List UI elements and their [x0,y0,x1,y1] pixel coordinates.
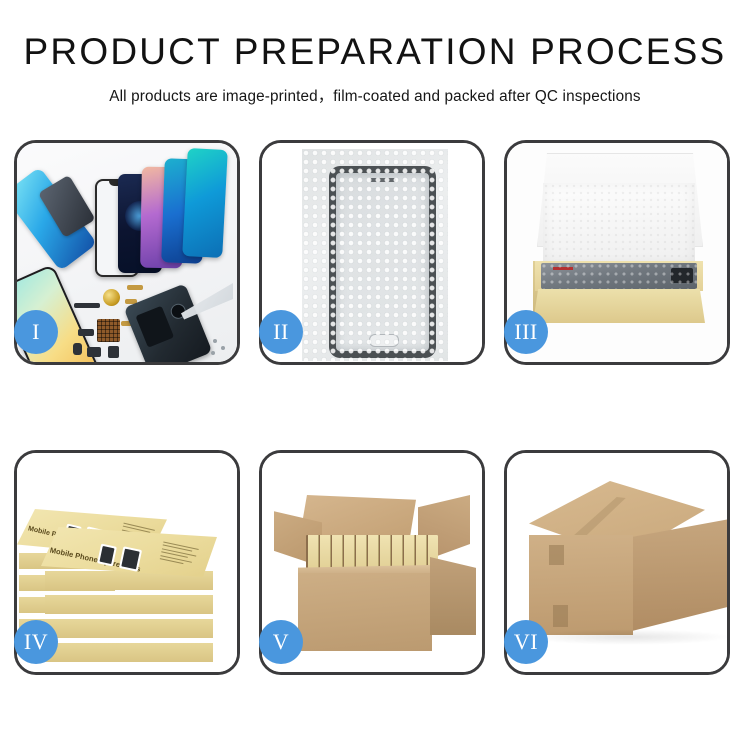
box-side-icon [45,595,213,614]
step-panel-5: V [259,450,485,675]
step-badge-1: I [14,310,58,354]
carton-shadow [525,629,727,645]
phone-teal-wallpaper-icon [182,148,228,258]
flex-cable-icon [127,285,143,290]
box-tray-front-icon [533,289,705,323]
step-panel-4: Mobile Phone Spare Parts [14,450,240,675]
wrapped-screen-icon [541,263,697,289]
screw-icon [213,339,217,343]
carton-flap-seam-icon [549,545,564,565]
screw-icon [221,346,225,350]
carton-flap-seam-icon [553,605,568,627]
step-panel-2: II [259,140,485,365]
product-preparation-infographic: PRODUCT PREPARATION PROCESS All products… [0,0,750,750]
step-badge-4: IV [14,620,58,664]
photo-area [302,149,448,361]
page-subtitle: All products are image-printed，film-coat… [0,84,750,106]
box-lid-top-icon: Mobile Phone Spare Parts [41,527,217,577]
page-title: PRODUCT PREPARATION PROCESS [0,33,750,70]
step-panel-3: III [504,140,730,365]
step-badge-2: II [259,310,303,354]
step-panel-1: I [14,140,240,365]
box-side-icon [45,619,213,638]
screw-icon [211,351,215,355]
foam-padding-icon [543,183,695,265]
carton-right-face-icon [632,519,727,631]
step-panel-6: VI [504,450,730,675]
carton-front-face-icon [298,573,432,651]
speaker-part-icon [87,347,101,357]
carton-front-face-icon [529,535,633,635]
chip-part-icon [74,303,100,308]
box-side-icon [45,643,213,662]
bubble-wrap-texture [302,149,448,361]
page-header: PRODUCT PREPARATION PROCESS All products… [0,0,750,106]
step-badge-5: V [259,620,303,664]
phone-tilted-blue-icon [17,167,97,271]
process-steps-grid: I II [14,140,736,675]
step-badge-3: III [504,310,548,354]
connector-grid-icon [97,319,120,342]
carton-side-face-icon [430,557,476,635]
vibration-motor-icon [103,289,120,306]
phone-back-housing-icon [124,283,213,362]
sim-tray-icon [108,346,119,358]
box-spec-lines [159,541,198,568]
battery-connector-icon [78,329,94,336]
step-badge-6: VI [504,620,548,664]
camera-part-icon [73,343,82,355]
